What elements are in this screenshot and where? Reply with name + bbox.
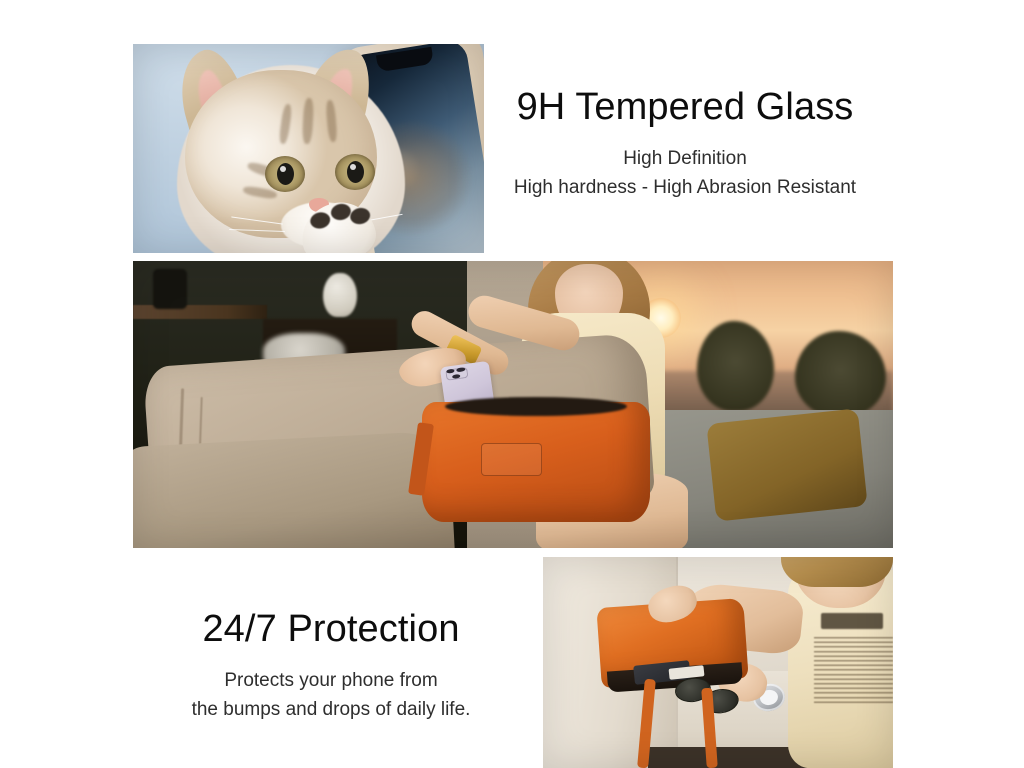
cat-stripe xyxy=(325,100,338,143)
phone-notch xyxy=(376,47,434,73)
cat-pupil xyxy=(277,163,294,185)
cat-toe xyxy=(309,211,332,231)
poster-canvas: 9H Tempered Glass High Definition High h… xyxy=(0,0,1024,768)
tank-top-paragraph-print xyxy=(814,637,893,704)
tree xyxy=(697,321,774,411)
shelf-jar xyxy=(153,269,187,309)
protection-subline-1: Protects your phone from xyxy=(131,666,531,695)
olive-throw-pillow xyxy=(706,408,867,521)
cat-pupil xyxy=(347,161,364,183)
shelf xyxy=(133,305,267,319)
tempered-glass-text-block: 9H Tempered Glass High Definition High h… xyxy=(485,86,885,203)
bag-opening xyxy=(445,397,627,416)
photo-phone-into-bag xyxy=(133,261,893,548)
protection-text-block: 24/7 Protection Protects your phone from… xyxy=(131,608,531,725)
camera-lens xyxy=(456,368,465,373)
tempered-glass-headline: 9H Tempered Glass xyxy=(485,86,885,130)
photo-bag-spilling xyxy=(543,557,893,768)
woman-hair xyxy=(781,557,893,587)
photo-cat-with-phone xyxy=(133,44,484,253)
camera-lens xyxy=(452,374,461,379)
orange-handbag xyxy=(422,402,650,523)
protection-headline: 24/7 Protection xyxy=(131,608,531,652)
tempered-glass-subline-1: High Definition xyxy=(485,144,885,173)
cat-stripe xyxy=(278,104,292,145)
cat-eye-right xyxy=(335,154,375,190)
tempered-glass-subline-2: High hardness - High Abrasion Resistant xyxy=(485,173,885,202)
bag-logo-tag xyxy=(481,443,542,476)
cat-whisker xyxy=(231,216,283,225)
tree xyxy=(795,331,886,418)
sofa-arm xyxy=(133,430,455,548)
cat-toe xyxy=(329,202,352,222)
phone-camera-module xyxy=(445,367,469,381)
camera-lens xyxy=(446,369,455,374)
protection-subline-2: the bumps and drops of daily life. xyxy=(131,695,531,724)
cat-stripe xyxy=(302,98,314,144)
tank-top-word-print xyxy=(821,613,883,629)
cat-eye-left xyxy=(265,156,305,192)
shelf-vase xyxy=(323,273,357,317)
